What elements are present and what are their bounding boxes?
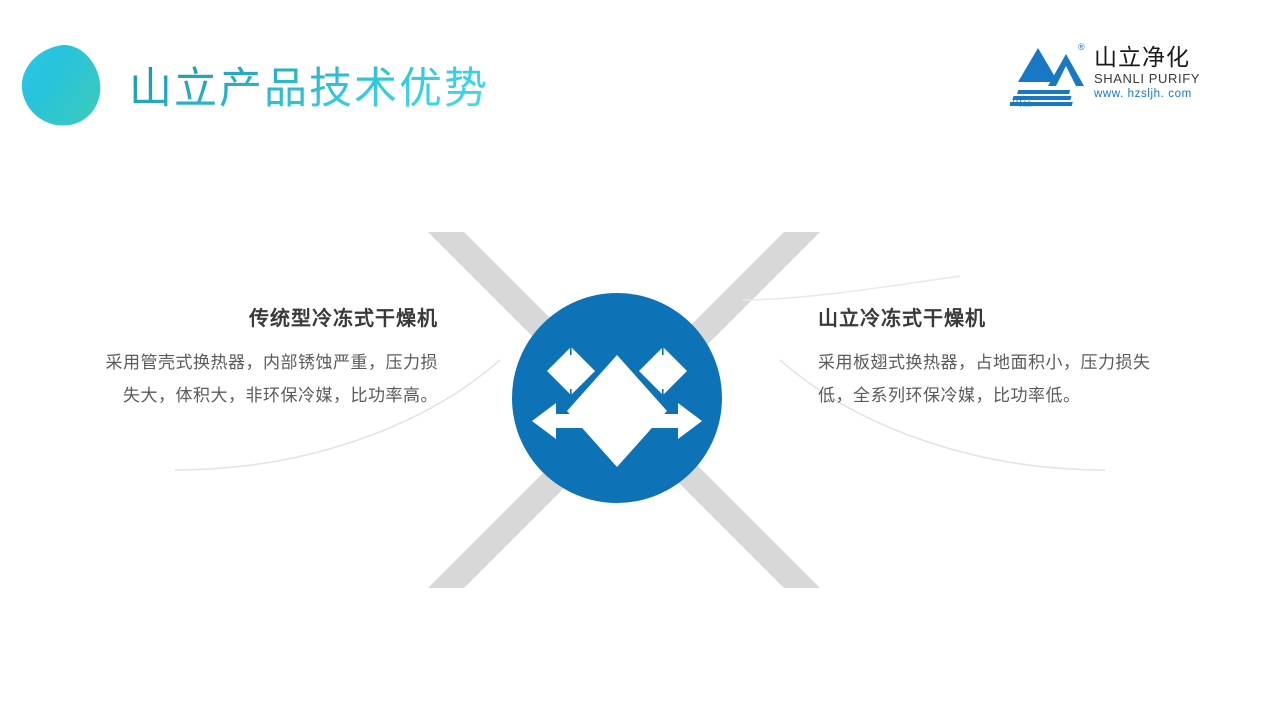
column-title-traditional: 传统型冷冻式干燥机 [88,303,438,333]
logo-company-cn: 山立净化 [1094,45,1224,71]
logo-company-en: SHANLI PURIFY [1094,71,1224,87]
compare-expand-glyph [512,293,722,503]
company-logo: ® 山立 山立净化 SHANLI PURIFY www. hzsljh. com [1010,42,1222,116]
column-body-traditional: 采用管壳式换热器，内部锈蚀严重，压力损失大，体积大，非环保冷媒，比功率高。 [100,347,438,413]
column-shanli: 山立冷冻式干燥机 采用板翅式换热器，占地面积小，压力损失低，全系列环保冷媒，比功… [818,303,1168,413]
column-title-shanli: 山立冷冻式干燥机 [818,303,1168,333]
logo-wordmark: 山立净化 SHANLI PURIFY www. hzsljh. com [1094,45,1224,101]
column-body-shanli: 采用板翅式换热器，占地面积小，压力损失低，全系列环保冷媒，比功率低。 [818,347,1166,413]
column-traditional: 传统型冷冻式干燥机 采用管壳式换热器，内部锈蚀严重，压力损失大，体积大，非环保冷… [88,303,438,413]
page-title: 山立产品技术优势 [129,63,489,115]
notch-right-top [662,343,664,355]
logo-website: www. hzsljh. com [1094,87,1224,101]
notch-right-bottom [662,389,664,401]
notch-left-top [570,343,572,355]
blob-icon [15,39,108,133]
notch-left-bottom [570,389,572,401]
compare-expand-icon [512,293,722,503]
registered-trademark-icon: ® [1078,43,1085,52]
logo-mark-caption: 山立 [1012,98,1032,109]
slide-canvas: 山立产品技术优势 ® 山立 山立净化 SHANLI PURIFY www. hz… [0,0,1280,720]
